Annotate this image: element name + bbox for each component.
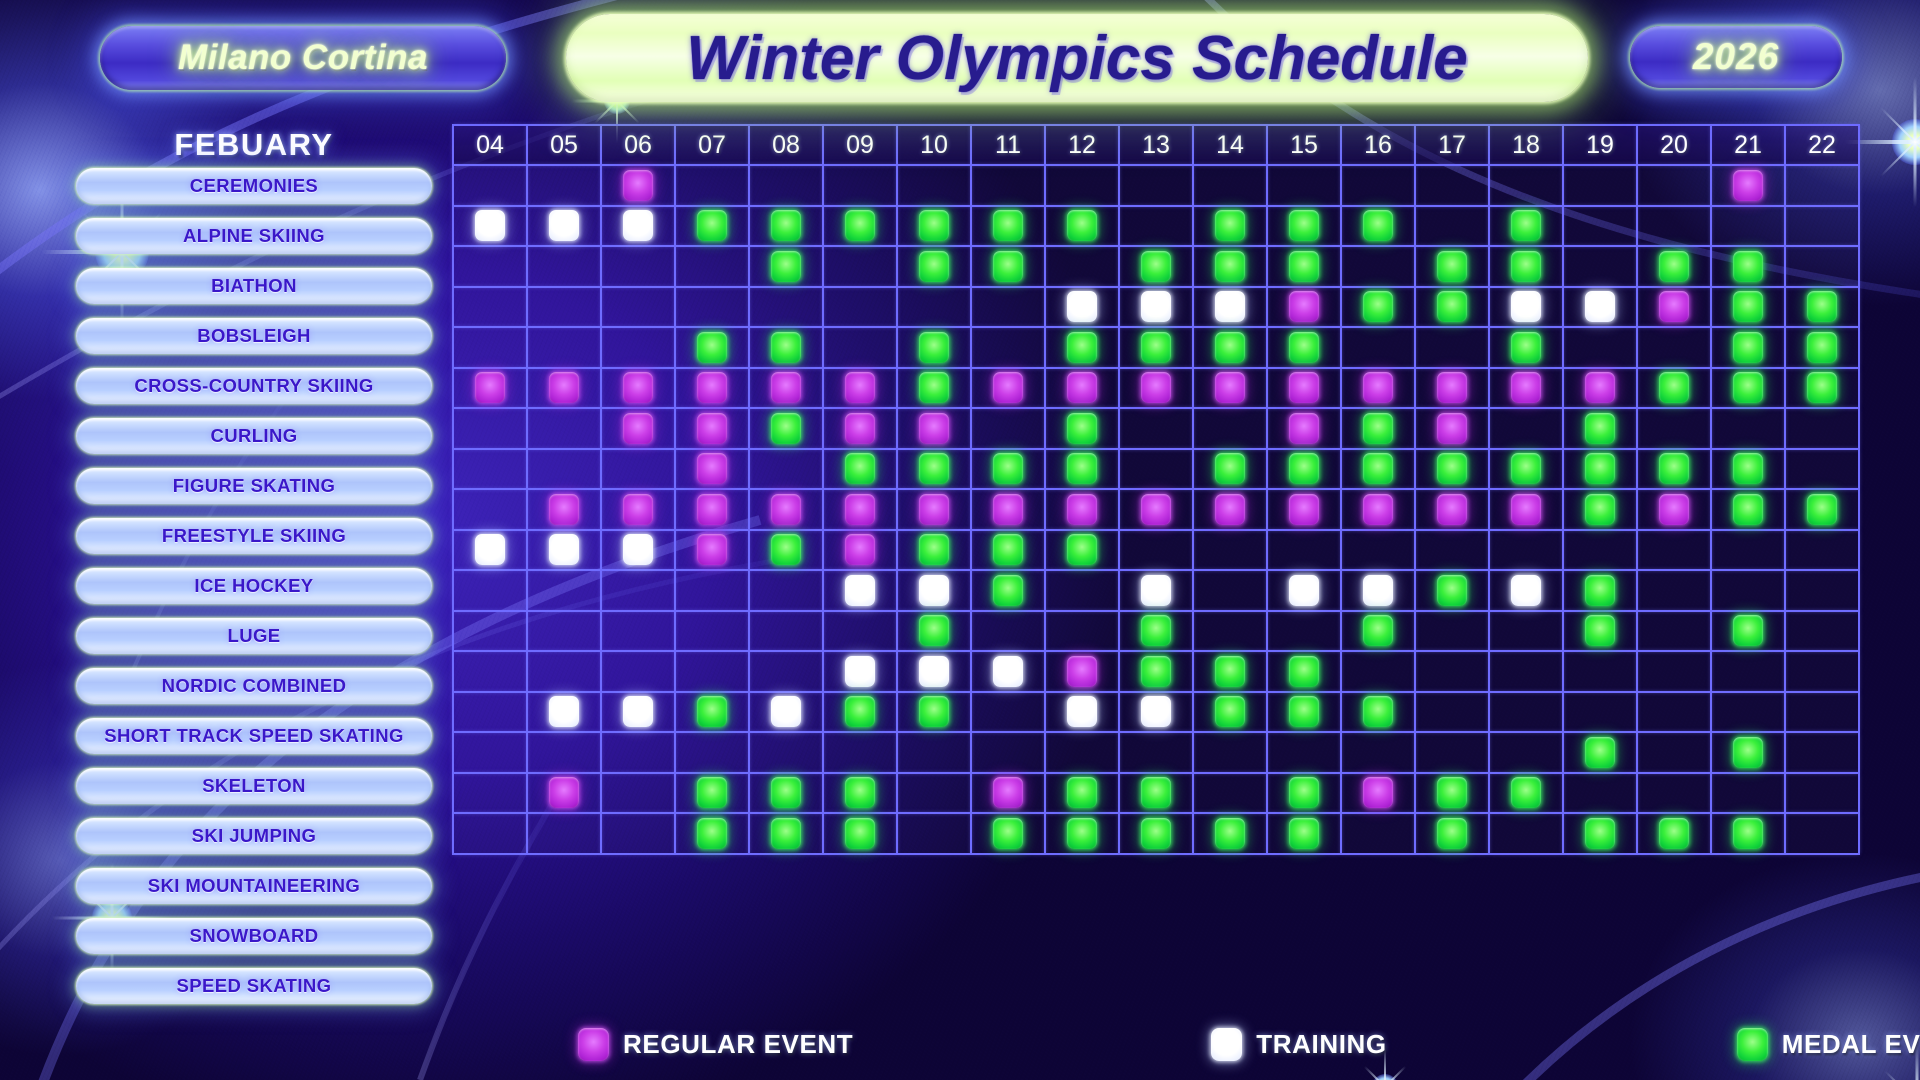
schedule-cell[interactable] — [1563, 246, 1637, 287]
schedule-cell[interactable] — [823, 530, 897, 571]
schedule-cell[interactable] — [1415, 287, 1489, 328]
schedule-cell[interactable] — [971, 489, 1045, 530]
schedule-cell[interactable] — [1711, 287, 1785, 328]
schedule-cell[interactable] — [527, 246, 601, 287]
schedule-cell[interactable] — [1193, 165, 1267, 206]
schedule-cell[interactable] — [1415, 732, 1489, 773]
schedule-cell[interactable] — [1489, 692, 1563, 733]
schedule-cell[interactable] — [1341, 206, 1415, 247]
schedule-cell[interactable] — [971, 813, 1045, 854]
schedule-cell[interactable] — [675, 813, 749, 854]
schedule-cell[interactable] — [1489, 732, 1563, 773]
schedule-cell[interactable] — [675, 287, 749, 328]
schedule-cell[interactable] — [1267, 165, 1341, 206]
schedule-cell[interactable] — [749, 611, 823, 652]
schedule-cell[interactable] — [1341, 530, 1415, 571]
schedule-cell[interactable] — [1785, 773, 1859, 814]
schedule-cell[interactable] — [1119, 327, 1193, 368]
schedule-cell[interactable] — [823, 611, 897, 652]
schedule-cell[interactable] — [1637, 773, 1711, 814]
schedule-cell[interactable] — [1563, 611, 1637, 652]
schedule-cell[interactable] — [971, 246, 1045, 287]
schedule-cell[interactable] — [1341, 327, 1415, 368]
schedule-cell[interactable] — [897, 408, 971, 449]
schedule-cell[interactable] — [1267, 408, 1341, 449]
schedule-cell[interactable] — [1489, 327, 1563, 368]
schedule-cell[interactable] — [971, 327, 1045, 368]
schedule-cell[interactable] — [1637, 732, 1711, 773]
schedule-cell[interactable] — [823, 327, 897, 368]
schedule-cell[interactable] — [823, 287, 897, 328]
sport-row-label[interactable]: ALPINE SKIING — [76, 218, 432, 254]
schedule-cell[interactable] — [1119, 287, 1193, 328]
schedule-cell[interactable] — [1563, 368, 1637, 409]
schedule-cell[interactable] — [675, 732, 749, 773]
schedule-cell[interactable] — [1489, 773, 1563, 814]
schedule-cell[interactable] — [1119, 732, 1193, 773]
schedule-cell[interactable] — [1637, 611, 1711, 652]
schedule-cell[interactable] — [1711, 206, 1785, 247]
schedule-cell[interactable] — [1119, 246, 1193, 287]
schedule-cell[interactable] — [527, 611, 601, 652]
schedule-cell[interactable] — [601, 489, 675, 530]
schedule-cell[interactable] — [453, 813, 527, 854]
schedule-cell[interactable] — [1711, 692, 1785, 733]
schedule-cell[interactable] — [1045, 206, 1119, 247]
schedule-cell[interactable] — [1119, 651, 1193, 692]
schedule-cell[interactable] — [1193, 368, 1267, 409]
schedule-cell[interactable] — [971, 530, 1045, 571]
schedule-cell[interactable] — [1563, 489, 1637, 530]
schedule-cell[interactable] — [1267, 287, 1341, 328]
schedule-cell[interactable] — [1119, 530, 1193, 571]
schedule-cell[interactable] — [527, 327, 601, 368]
schedule-cell[interactable] — [1045, 368, 1119, 409]
schedule-cell[interactable] — [1119, 206, 1193, 247]
schedule-cell[interactable] — [527, 449, 601, 490]
schedule-cell[interactable] — [527, 651, 601, 692]
schedule-cell[interactable] — [1563, 570, 1637, 611]
schedule-cell[interactable] — [1415, 773, 1489, 814]
schedule-cell[interactable] — [1711, 530, 1785, 571]
schedule-cell[interactable] — [1489, 408, 1563, 449]
schedule-cell[interactable] — [1785, 368, 1859, 409]
schedule-cell[interactable] — [1341, 368, 1415, 409]
schedule-cell[interactable] — [1711, 570, 1785, 611]
schedule-cell[interactable] — [1637, 651, 1711, 692]
schedule-cell[interactable] — [1563, 732, 1637, 773]
schedule-cell[interactable] — [675, 408, 749, 449]
schedule-cell[interactable] — [1785, 570, 1859, 611]
schedule-cell[interactable] — [1267, 732, 1341, 773]
schedule-cell[interactable] — [1563, 287, 1637, 328]
schedule-cell[interactable] — [1045, 530, 1119, 571]
schedule-cell[interactable] — [1637, 530, 1711, 571]
schedule-cell[interactable] — [1563, 206, 1637, 247]
schedule-cell[interactable] — [1119, 813, 1193, 854]
schedule-cell[interactable] — [897, 611, 971, 652]
schedule-cell[interactable] — [1267, 813, 1341, 854]
schedule-cell[interactable] — [1193, 246, 1267, 287]
schedule-cell[interactable] — [1193, 206, 1267, 247]
sport-row-label[interactable]: SKI JUMPING — [76, 818, 432, 854]
schedule-cell[interactable] — [1489, 611, 1563, 652]
schedule-cell[interactable] — [1711, 732, 1785, 773]
schedule-cell[interactable] — [1563, 408, 1637, 449]
schedule-cell[interactable] — [897, 368, 971, 409]
schedule-cell[interactable] — [1785, 206, 1859, 247]
schedule-cell[interactable] — [1415, 408, 1489, 449]
schedule-cell[interactable] — [601, 246, 675, 287]
schedule-cell[interactable] — [1045, 570, 1119, 611]
schedule-cell[interactable] — [1045, 651, 1119, 692]
schedule-cell[interactable] — [897, 692, 971, 733]
schedule-cell[interactable] — [823, 692, 897, 733]
schedule-cell[interactable] — [1267, 368, 1341, 409]
schedule-cell[interactable] — [1045, 408, 1119, 449]
schedule-cell[interactable] — [1119, 368, 1193, 409]
sport-row-label[interactable]: SKELETON — [76, 768, 432, 804]
schedule-cell[interactable] — [1119, 449, 1193, 490]
schedule-cell[interactable] — [749, 773, 823, 814]
schedule-cell[interactable] — [1489, 206, 1563, 247]
sport-row-label[interactable]: FIGURE SKATING — [76, 468, 432, 504]
schedule-cell[interactable] — [601, 611, 675, 652]
schedule-cell[interactable] — [971, 408, 1045, 449]
schedule-cell[interactable] — [823, 489, 897, 530]
schedule-cell[interactable] — [1637, 813, 1711, 854]
schedule-cell[interactable] — [453, 449, 527, 490]
schedule-cell[interactable] — [749, 530, 823, 571]
schedule-cell[interactable] — [1341, 813, 1415, 854]
sport-row-label[interactable]: SKI MOUNTAINEERING — [76, 868, 432, 904]
schedule-cell[interactable] — [1045, 327, 1119, 368]
schedule-cell[interactable] — [1267, 206, 1341, 247]
schedule-cell[interactable] — [1489, 530, 1563, 571]
schedule-cell[interactable] — [1267, 246, 1341, 287]
schedule-cell[interactable] — [453, 408, 527, 449]
sport-row-label[interactable]: SHORT TRACK SPEED SKATING — [76, 718, 432, 754]
schedule-cell[interactable] — [1193, 449, 1267, 490]
schedule-cell[interactable] — [1267, 449, 1341, 490]
schedule-cell[interactable] — [1267, 327, 1341, 368]
schedule-cell[interactable] — [971, 165, 1045, 206]
schedule-cell[interactable] — [1341, 287, 1415, 328]
schedule-cell[interactable] — [749, 489, 823, 530]
schedule-cell[interactable] — [675, 773, 749, 814]
schedule-cell[interactable] — [823, 165, 897, 206]
schedule-cell[interactable] — [1711, 449, 1785, 490]
schedule-cell[interactable] — [1489, 570, 1563, 611]
schedule-cell[interactable] — [1415, 206, 1489, 247]
schedule-cell[interactable] — [675, 206, 749, 247]
schedule-cell[interactable] — [823, 206, 897, 247]
schedule-cell[interactable] — [675, 327, 749, 368]
schedule-cell[interactable] — [527, 287, 601, 328]
schedule-cell[interactable] — [1341, 732, 1415, 773]
schedule-cell[interactable] — [453, 165, 527, 206]
schedule-cell[interactable] — [823, 246, 897, 287]
schedule-cell[interactable] — [971, 206, 1045, 247]
schedule-cell[interactable] — [1785, 651, 1859, 692]
schedule-cell[interactable] — [1267, 611, 1341, 652]
schedule-cell[interactable] — [1267, 692, 1341, 733]
schedule-cell[interactable] — [1489, 165, 1563, 206]
schedule-cell[interactable] — [1489, 368, 1563, 409]
schedule-cell[interactable] — [675, 489, 749, 530]
schedule-cell[interactable] — [1637, 489, 1711, 530]
schedule-cell[interactable] — [675, 651, 749, 692]
schedule-cell[interactable] — [453, 246, 527, 287]
schedule-cell[interactable] — [601, 368, 675, 409]
sport-row-label[interactable]: SNOWBOARD — [76, 918, 432, 954]
schedule-cell[interactable] — [1563, 773, 1637, 814]
schedule-cell[interactable] — [1637, 327, 1711, 368]
schedule-cell[interactable] — [897, 530, 971, 571]
schedule-cell[interactable] — [527, 489, 601, 530]
schedule-cell[interactable] — [1711, 327, 1785, 368]
schedule-cell[interactable] — [527, 530, 601, 571]
schedule-cell[interactable] — [1341, 165, 1415, 206]
schedule-cell[interactable] — [1119, 692, 1193, 733]
schedule-cell[interactable] — [1193, 611, 1267, 652]
schedule-cell[interactable] — [1415, 813, 1489, 854]
schedule-cell[interactable] — [453, 368, 527, 409]
schedule-cell[interactable] — [897, 813, 971, 854]
schedule-cell[interactable] — [1637, 287, 1711, 328]
schedule-cell[interactable] — [601, 206, 675, 247]
schedule-cell[interactable] — [1711, 246, 1785, 287]
schedule-cell[interactable] — [1415, 368, 1489, 409]
schedule-cell[interactable] — [1637, 449, 1711, 490]
schedule-cell[interactable] — [1711, 773, 1785, 814]
schedule-cell[interactable] — [749, 408, 823, 449]
schedule-cell[interactable] — [1119, 489, 1193, 530]
schedule-cell[interactable] — [1341, 408, 1415, 449]
sport-row-label[interactable]: ICE HOCKEY — [76, 568, 432, 604]
schedule-cell[interactable] — [1045, 165, 1119, 206]
schedule-cell[interactable] — [453, 489, 527, 530]
schedule-cell[interactable] — [453, 206, 527, 247]
schedule-cell[interactable] — [453, 570, 527, 611]
schedule-cell[interactable] — [1267, 773, 1341, 814]
schedule-cell[interactable] — [527, 368, 601, 409]
schedule-cell[interactable] — [749, 368, 823, 409]
schedule-cell[interactable] — [1415, 449, 1489, 490]
schedule-cell[interactable] — [527, 206, 601, 247]
schedule-cell[interactable] — [601, 570, 675, 611]
schedule-cell[interactable] — [1563, 449, 1637, 490]
schedule-cell[interactable] — [1637, 165, 1711, 206]
sport-row-label[interactable]: BIATHON — [76, 268, 432, 304]
sport-row-label[interactable]: CROSS-COUNTRY SKIING — [76, 368, 432, 404]
schedule-cell[interactable] — [1045, 692, 1119, 733]
schedule-cell[interactable] — [1119, 773, 1193, 814]
schedule-cell[interactable] — [1193, 489, 1267, 530]
schedule-cell[interactable] — [675, 368, 749, 409]
schedule-cell[interactable] — [1785, 408, 1859, 449]
schedule-cell[interactable] — [1193, 813, 1267, 854]
schedule-cell[interactable] — [1637, 246, 1711, 287]
schedule-cell[interactable] — [675, 449, 749, 490]
schedule-cell[interactable] — [1785, 611, 1859, 652]
schedule-cell[interactable] — [527, 165, 601, 206]
schedule-cell[interactable] — [1341, 611, 1415, 652]
schedule-cell[interactable] — [1119, 611, 1193, 652]
schedule-cell[interactable] — [527, 692, 601, 733]
schedule-cell[interactable] — [1489, 489, 1563, 530]
sport-row-label[interactable]: LUGE — [76, 618, 432, 654]
schedule-cell[interactable] — [453, 327, 527, 368]
schedule-cell[interactable] — [675, 570, 749, 611]
schedule-cell[interactable] — [823, 732, 897, 773]
schedule-cell[interactable] — [601, 651, 675, 692]
schedule-cell[interactable] — [1193, 651, 1267, 692]
schedule-cell[interactable] — [749, 206, 823, 247]
schedule-cell[interactable] — [1045, 732, 1119, 773]
sport-row-label[interactable]: SPEED SKATING — [76, 968, 432, 1004]
schedule-cell[interactable] — [1193, 692, 1267, 733]
schedule-cell[interactable] — [527, 813, 601, 854]
schedule-cell[interactable] — [749, 570, 823, 611]
schedule-cell[interactable] — [823, 449, 897, 490]
schedule-cell[interactable] — [1563, 692, 1637, 733]
sport-row-label[interactable]: BOBSLEIGH — [76, 318, 432, 354]
schedule-cell[interactable] — [1637, 368, 1711, 409]
schedule-cell[interactable] — [971, 692, 1045, 733]
schedule-cell[interactable] — [823, 408, 897, 449]
schedule-cell[interactable] — [749, 165, 823, 206]
schedule-cell[interactable] — [1785, 813, 1859, 854]
schedule-cell[interactable] — [1637, 692, 1711, 733]
schedule-cell[interactable] — [1045, 773, 1119, 814]
schedule-cell[interactable] — [1341, 651, 1415, 692]
schedule-cell[interactable] — [749, 246, 823, 287]
schedule-cell[interactable] — [823, 773, 897, 814]
schedule-cell[interactable] — [1563, 327, 1637, 368]
schedule-cell[interactable] — [1415, 246, 1489, 287]
schedule-cell[interactable] — [453, 692, 527, 733]
schedule-cell[interactable] — [453, 651, 527, 692]
schedule-cell[interactable] — [1785, 692, 1859, 733]
schedule-cell[interactable] — [1415, 692, 1489, 733]
sport-row-label[interactable]: CEREMONIES — [76, 168, 432, 204]
schedule-cell[interactable] — [897, 732, 971, 773]
schedule-cell[interactable] — [601, 449, 675, 490]
schedule-cell[interactable] — [897, 489, 971, 530]
schedule-cell[interactable] — [601, 165, 675, 206]
schedule-cell[interactable] — [971, 287, 1045, 328]
schedule-cell[interactable] — [749, 813, 823, 854]
schedule-cell[interactable] — [897, 246, 971, 287]
schedule-cell[interactable] — [971, 449, 1045, 490]
schedule-cell[interactable] — [1637, 570, 1711, 611]
schedule-cell[interactable] — [527, 408, 601, 449]
schedule-cell[interactable] — [1193, 287, 1267, 328]
schedule-cell[interactable] — [897, 651, 971, 692]
schedule-cell[interactable] — [897, 287, 971, 328]
schedule-cell[interactable] — [971, 651, 1045, 692]
schedule-cell[interactable] — [1785, 449, 1859, 490]
schedule-cell[interactable] — [1489, 287, 1563, 328]
schedule-cell[interactable] — [1045, 287, 1119, 328]
schedule-cell[interactable] — [1193, 773, 1267, 814]
schedule-cell[interactable] — [1489, 449, 1563, 490]
schedule-cell[interactable] — [749, 449, 823, 490]
schedule-cell[interactable] — [1045, 246, 1119, 287]
schedule-cell[interactable] — [823, 368, 897, 409]
schedule-cell[interactable] — [601, 327, 675, 368]
schedule-cell[interactable] — [1785, 489, 1859, 530]
schedule-cell[interactable] — [897, 165, 971, 206]
schedule-cell[interactable] — [1267, 530, 1341, 571]
schedule-cell[interactable] — [453, 530, 527, 571]
schedule-cell[interactable] — [1193, 530, 1267, 571]
schedule-cell[interactable] — [1341, 489, 1415, 530]
schedule-cell[interactable] — [1563, 813, 1637, 854]
schedule-cell[interactable] — [1415, 611, 1489, 652]
schedule-cell[interactable] — [1711, 611, 1785, 652]
schedule-cell[interactable] — [1563, 530, 1637, 571]
schedule-cell[interactable] — [749, 651, 823, 692]
schedule-cell[interactable] — [601, 287, 675, 328]
schedule-cell[interactable] — [675, 611, 749, 652]
schedule-cell[interactable] — [601, 408, 675, 449]
schedule-cell[interactable] — [1341, 449, 1415, 490]
schedule-cell[interactable] — [971, 368, 1045, 409]
schedule-cell[interactable] — [971, 570, 1045, 611]
sport-row-label[interactable]: NORDIC COMBINED — [76, 668, 432, 704]
schedule-cell[interactable] — [1711, 165, 1785, 206]
schedule-cell[interactable] — [1415, 530, 1489, 571]
schedule-cell[interactable] — [601, 813, 675, 854]
schedule-cell[interactable] — [1785, 327, 1859, 368]
schedule-cell[interactable] — [453, 287, 527, 328]
schedule-cell[interactable] — [1267, 489, 1341, 530]
schedule-cell[interactable] — [675, 165, 749, 206]
schedule-cell[interactable] — [823, 651, 897, 692]
schedule-cell[interactable] — [601, 530, 675, 571]
schedule-cell[interactable] — [1119, 408, 1193, 449]
schedule-cell[interactable] — [749, 327, 823, 368]
schedule-cell[interactable] — [1637, 408, 1711, 449]
schedule-cell[interactable] — [1711, 813, 1785, 854]
schedule-cell[interactable] — [675, 530, 749, 571]
schedule-cell[interactable] — [453, 773, 527, 814]
schedule-cell[interactable] — [897, 570, 971, 611]
schedule-cell[interactable] — [1045, 813, 1119, 854]
schedule-cell[interactable] — [1711, 651, 1785, 692]
schedule-cell[interactable] — [601, 773, 675, 814]
schedule-cell[interactable] — [1341, 773, 1415, 814]
schedule-cell[interactable] — [1785, 530, 1859, 571]
schedule-cell[interactable] — [1711, 489, 1785, 530]
schedule-cell[interactable] — [1785, 732, 1859, 773]
schedule-cell[interactable] — [1045, 489, 1119, 530]
schedule-cell[interactable] — [1563, 651, 1637, 692]
schedule-cell[interactable] — [675, 692, 749, 733]
schedule-cell[interactable] — [1341, 246, 1415, 287]
schedule-cell[interactable] — [1415, 489, 1489, 530]
schedule-cell[interactable] — [1489, 813, 1563, 854]
schedule-cell[interactable] — [897, 327, 971, 368]
schedule-cell[interactable] — [1119, 165, 1193, 206]
schedule-cell[interactable] — [601, 732, 675, 773]
schedule-cell[interactable] — [1193, 408, 1267, 449]
schedule-cell[interactable] — [1045, 449, 1119, 490]
schedule-cell[interactable] — [1193, 327, 1267, 368]
schedule-cell[interactable] — [1119, 570, 1193, 611]
